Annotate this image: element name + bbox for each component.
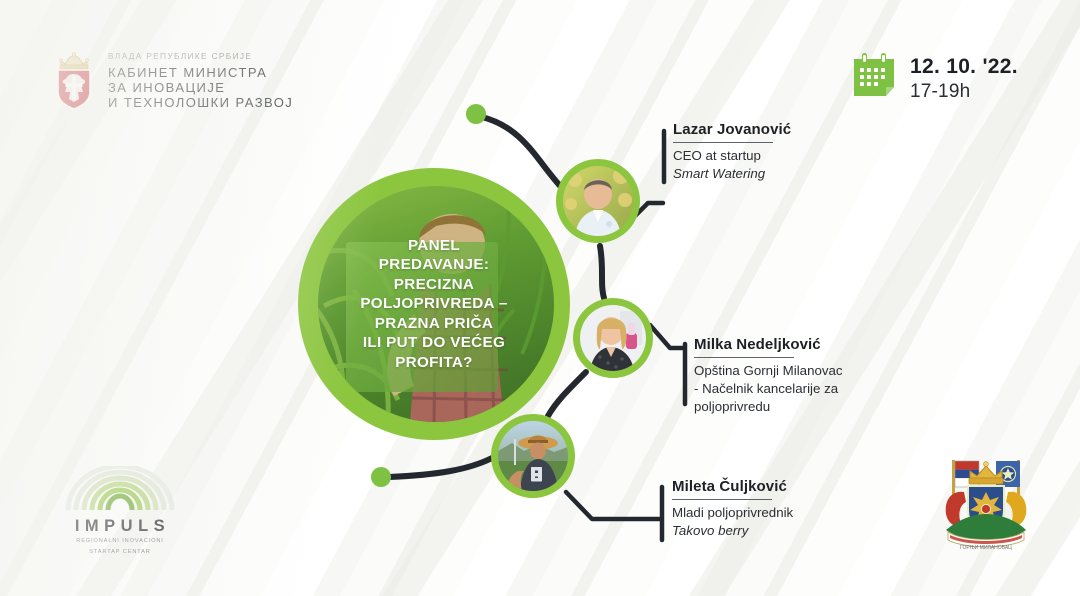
speaker-role: CEO at startup: [673, 147, 791, 165]
government-logo-text: ВЛАДА РЕПУБЛИКЕ СРБИЈЕ КАБИНЕТ МИНИСТРА …: [108, 52, 293, 110]
impuls-wordmark: IMPULS: [63, 517, 182, 535]
speaker-divider: [694, 357, 794, 358]
hero-title-line: PROFITA?: [312, 353, 556, 372]
gov-line-3: И ТЕХНОЛОШКИ РАЗВОЈ: [108, 95, 293, 110]
connector-curve-lower: [548, 372, 586, 416]
speaker-card-1: Lazar Jovanović CEO at startup Smart Wat…: [673, 121, 791, 183]
hero-circle: PANEL PREDAVANJE: PRECIZNA POLJOPRIVREDA…: [298, 168, 570, 440]
bracket-elbow-3: [566, 492, 661, 519]
gornji-milanovac-coat-of-arms-icon: ГОРЊИ МИЛАНОВАЦ: [930, 448, 1042, 552]
impuls-arcs-icon: [65, 466, 175, 510]
hero-title-line: POLJOPRIVREDA –: [312, 294, 556, 313]
gov-line-1: КАБИНЕТ МИНИСТРА: [108, 65, 293, 80]
avatar-photo: [498, 421, 568, 491]
speaker-photo-milka-nedeljkovic: [580, 305, 646, 371]
speaker-divider: [672, 499, 772, 500]
gov-line-small: ВЛАДА РЕПУБЛИКЕ СРБИЈЕ: [108, 52, 293, 62]
serbia-coat-of-arms-icon: [52, 52, 96, 110]
bracket-elbow-2: [650, 325, 684, 348]
hero-title-line: PANEL: [312, 236, 556, 255]
avatar-mileta-culjkovic: [491, 414, 575, 498]
avatar-photo: [580, 305, 646, 371]
svg-text:ГОРЊИ МИЛАНОВАЦ: ГОРЊИ МИЛАНОВАЦ: [960, 545, 1012, 551]
speaker-photo-lazar-jovanovic: [563, 166, 633, 236]
speaker-role: Mladi poljoprivrednik: [672, 504, 793, 522]
date-badge: 12. 10. '22. 17-19h: [851, 52, 1018, 103]
event-date: 12. 10. '22.: [910, 54, 1018, 80]
impuls-tagline-1: REGIONALNI INOVACIONI: [58, 537, 182, 545]
hero-title: PANEL PREDAVANJE: PRECIZNA POLJOPRIVREDA…: [298, 236, 570, 372]
speaker-org: Smart Watering: [673, 165, 791, 183]
avatar-milka-nedeljkovic: [573, 298, 653, 378]
speaker-card-2: Milka Nedeljković Opština Gornji Milanov…: [694, 336, 844, 415]
node-dot-top: [466, 104, 486, 124]
impuls-tagline-2: STARTAP CENTAR: [58, 548, 182, 556]
speaker-divider: [673, 142, 773, 143]
gov-line-2: ЗА ИНОВАЦИЈЕ: [108, 80, 293, 95]
government-logo: ВЛАДА РЕПУБЛИКЕ СРБИЈЕ КАБИНЕТ МИНИСТРА …: [52, 52, 293, 110]
speaker-role: Opština Gornji Milanovac - Načelnik kanc…: [694, 362, 844, 415]
date-badge-text: 12. 10. '22. 17-19h: [910, 52, 1018, 103]
speaker-name: Milka Nedeljković: [694, 336, 844, 353]
speaker-org: Takovo berry: [672, 522, 793, 540]
avatar-lazar-jovanovic: [556, 159, 640, 243]
speaker-name: Mileta Čuljković: [672, 478, 793, 495]
poster-canvas: ВЛАДА РЕПУБЛИКЕ СРБИЈЕ КАБИНЕТ МИНИСТРА …: [0, 0, 1080, 596]
speaker-photo-mileta-culjkovic: [498, 421, 568, 491]
node-dot-bottom: [371, 467, 391, 487]
hero-title-line: PRECIZNA: [312, 275, 556, 294]
speaker-card-3: Mileta Čuljković Mladi poljoprivrednik T…: [672, 478, 793, 540]
event-time: 17-19h: [910, 80, 1018, 104]
hero-title-line: PRAZNA PRIČA: [312, 314, 556, 333]
hero-title-line: ILI PUT DO VEĆEG: [312, 333, 556, 352]
speaker-name: Lazar Jovanović: [673, 121, 791, 138]
avatar-photo: [563, 166, 633, 236]
connector-curve-top: [482, 117, 562, 188]
connector-curve-bottom: [389, 458, 492, 477]
hero-title-line: PREDAVANJE:: [312, 255, 556, 274]
connector-curve-mid: [600, 246, 604, 298]
calendar-icon: [851, 52, 897, 99]
impuls-logo: IMPULS REGIONALNI INOVACIONI STARTAP CEN…: [58, 466, 182, 556]
